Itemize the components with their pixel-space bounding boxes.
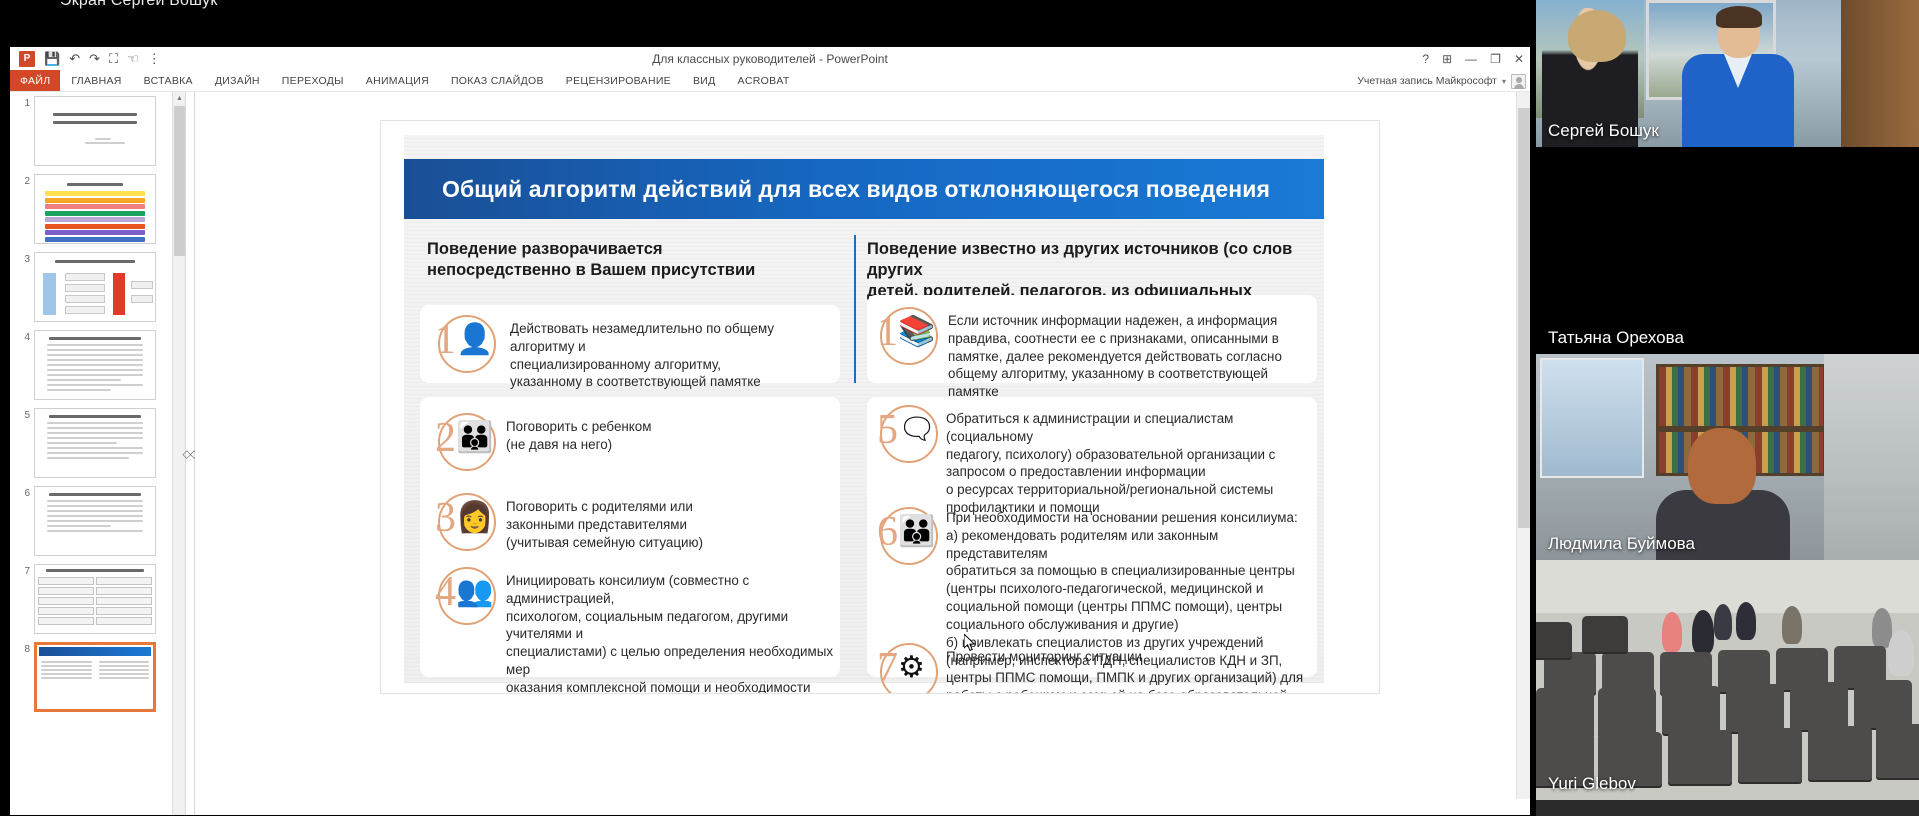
slide-vertical-scrollbar[interactable] (1516, 92, 1530, 799)
slide-title-text: Общий алгоритм действий для всех видов о… (404, 176, 1270, 203)
thumbnail-number: 7 (20, 564, 34, 577)
thumbnail-item[interactable]: 4 (20, 330, 179, 400)
step-badge: 3 👩 (438, 493, 496, 551)
scrollbar-thumb[interactable] (1518, 108, 1530, 528)
screen-root: Экран Сергей Бошук P 💾 ↶ ↷ ⛶ ☜ ⋮ Для кла… (0, 0, 1919, 816)
tab-insert[interactable]: ВСТАВКА (133, 70, 204, 91)
tab-slideshow[interactable]: ПОКАЗ СЛАЙДОВ (440, 70, 555, 91)
participant-tile-yuri[interactable]: Yuri Glebov (1536, 560, 1919, 800)
tab-transitions[interactable]: ПЕРЕХОДЫ (271, 70, 355, 91)
left-step-3: 3 👩 Поговорить с родителями или законным… (438, 493, 828, 551)
thumbnail-number: 6 (20, 486, 34, 499)
step-text: Инициировать консилиум (совместно с адми… (496, 567, 838, 694)
participant-name: Сергей Бошук (1548, 121, 1659, 141)
close-button[interactable]: ✕ (1514, 52, 1524, 66)
participant-name: Yuri Glebov (1548, 774, 1636, 794)
thumbnail-item[interactable]: 7 (20, 564, 179, 634)
powerpoint-logo-icon: P (19, 51, 35, 67)
ribbon-tab-bar: ФАЙЛ ГЛАВНАЯ ВСТАВКА ДИЗАЙН ПЕРЕХОДЫ АНИ… (10, 70, 1530, 92)
video-feed (1536, 354, 1919, 560)
step-number: 5 (877, 409, 898, 451)
participant-name: Людмила Буймова (1548, 534, 1695, 554)
step-text: Действовать незамедлительно по общему ал… (496, 315, 838, 391)
account-area[interactable]: Учетная запись Майкрософт ▾ (1357, 70, 1526, 92)
minimize-button[interactable]: — (1465, 52, 1477, 66)
tab-design[interactable]: ДИЗАЙН (204, 70, 271, 91)
monitoring-cycle-icon: ⚙ (898, 653, 925, 683)
left-step-1: 1 👤 Действовать незамедлительно по общем… (438, 315, 838, 391)
thumbnail-number: 3 (20, 252, 34, 265)
group-of-people-icon: 👥 (456, 577, 493, 607)
slide-thumbnail-pane[interactable]: 1 2 (10, 92, 186, 815)
step-number: 7 (877, 647, 898, 689)
step-text: Если источник информации надежен, а инфо… (938, 307, 1310, 401)
tab-acrobat[interactable]: ACROBAT (727, 70, 801, 91)
step-text: Поговорить с ребенком (не давя на него) (496, 413, 651, 454)
thumbnail-number: 5 (20, 408, 34, 421)
person-reading-icon: 📚 (898, 317, 935, 347)
step-number: 1 (435, 319, 456, 361)
step-text: Провести мониторинг ситуации (938, 643, 1142, 666)
restore-button[interactable]: ❐ (1490, 52, 1501, 66)
thumbnail-slide-7[interactable] (34, 564, 156, 634)
adult-and-child-icon: 👪 (456, 423, 493, 453)
speech-bubbles-icon: 🗨 (898, 415, 936, 445)
thumbnail-item[interactable]: 8 (20, 642, 179, 712)
participant-tile-sergey[interactable]: Сергей Бошук (1536, 0, 1919, 147)
document-title: Для классных руководителей - PowerPoint (10, 52, 1530, 66)
current-slide[interactable]: Общий алгоритм действий для всех видов о… (380, 120, 1380, 694)
pane-splitter[interactable]: ◇◇ (186, 92, 195, 815)
title-bar: P 💾 ↶ ↷ ⛶ ☜ ⋮ Для классных руководителей… (10, 47, 1530, 70)
column-divider (854, 235, 856, 383)
thumbnail-item[interactable]: 2 (20, 174, 179, 244)
video-feed-off (1536, 147, 1919, 354)
step-badge: 1 👤 (438, 315, 496, 373)
right-step-5: 5 🗨 Обратиться к администрации и специал… (880, 405, 1310, 517)
scrollbar-thumb[interactable] (174, 106, 185, 256)
step-badge: 6 👪 (880, 507, 938, 565)
powerpoint-body: 1 2 (10, 92, 1530, 815)
rail-bottom-bar (1536, 800, 1919, 816)
thumbnail-number: 4 (20, 330, 34, 343)
tab-view[interactable]: ВИД (682, 70, 727, 91)
powerpoint-window: P 💾 ↶ ↷ ⛶ ☜ ⋮ Для классных руководителей… (10, 47, 1530, 815)
start-presentation-icon[interactable]: ⛶ (109, 52, 118, 65)
slide-title-band: Общий алгоритм действий для всех видов о… (404, 159, 1324, 219)
video-participant-rail: Сергей Бошук Татьяна Орехова Людмила Буй… (1536, 0, 1919, 816)
scroll-up-icon[interactable]: ▲ (173, 92, 186, 105)
thumbnail-number: 1 (20, 96, 34, 109)
quick-access-toolbar: P 💾 ↶ ↷ ⛶ ☜ ⋮ (10, 51, 161, 67)
thumbnail-slide-8-active[interactable] (34, 642, 156, 712)
person-pointing-icon: 👤 (456, 325, 493, 355)
family-icon: 👪 (898, 517, 935, 547)
thumbnail-slide-3[interactable] (34, 252, 156, 322)
left-step-2: 2 👪 Поговорить с ребенком (не давя на не… (438, 413, 828, 471)
thumbnail-number: 8 (20, 642, 34, 655)
screen-share-caption: Экран Сергей Бошук (60, 0, 218, 10)
video-feed (1536, 560, 1919, 800)
window-controls: ? ⊞ — ❐ ✕ (1422, 47, 1524, 70)
parent-icon: 👩 (456, 503, 493, 533)
step-text: Обратиться к администрации и специалиста… (938, 405, 1310, 517)
avatar[interactable] (1511, 74, 1526, 89)
help-button[interactable]: ? (1422, 52, 1429, 66)
thumbnail-list: 1 2 (10, 92, 185, 712)
ribbon-display-options-button[interactable]: ⊞ (1442, 52, 1452, 66)
chevron-down-icon[interactable]: ▾ (1502, 77, 1506, 86)
slide-editing-area[interactable]: Общий алгоритм действий для всех видов о… (195, 92, 1530, 815)
step-text: Поговорить с родителями или законными пр… (496, 493, 703, 551)
tab-animation[interactable]: АНИМАЦИЯ (355, 70, 440, 91)
redo-icon[interactable]: ↷ (89, 52, 100, 65)
step-number: 4 (435, 571, 456, 613)
tab-review[interactable]: РЕЦЕНЗИРОВАНИЕ (555, 70, 682, 91)
right-step-1: 1 📚 Если источник информации надежен, а … (880, 307, 1310, 401)
participant-tile-lyudmila[interactable]: Людмила Буймова (1536, 354, 1919, 560)
thumbnail-number: 2 (20, 174, 34, 187)
undo-icon[interactable]: ↶ (69, 52, 80, 65)
step-number: 6 (877, 511, 898, 553)
right-step-7: 7 ⚙ Провести мониторинг ситуации (880, 643, 1310, 694)
thumbnail-slide-4[interactable] (34, 330, 156, 400)
step-badge: 2 👪 (438, 413, 496, 471)
participant-tile-tatyana[interactable]: Татьяна Орехова (1536, 147, 1919, 354)
customize-qat-icon[interactable]: ⋮ (148, 52, 161, 65)
step-badge: 5 🗨 (880, 405, 938, 463)
thumbnail-slide-6[interactable] (34, 486, 156, 556)
left-step-4: 4 👥 Инициировать консилиум (совместно с … (438, 567, 838, 694)
step-number: 3 (435, 497, 456, 539)
tab-file[interactable]: ФАЙЛ (10, 70, 60, 91)
thumbnail-slide-2[interactable] (34, 174, 156, 244)
thumbnail-item[interactable]: 5 (20, 408, 179, 478)
step-number: 1 (877, 311, 898, 353)
left-column-heading: Поведение разворачивается непосредственн… (427, 239, 827, 281)
thumbnail-item[interactable]: 3 (20, 252, 179, 322)
step-number: 2 (435, 417, 456, 459)
step-badge: 1 📚 (880, 307, 938, 365)
thumbnail-item[interactable]: 6 (20, 486, 179, 556)
slide-canvas: Общий алгоритм действий для всех видов о… (404, 135, 1324, 683)
touch-mode-icon[interactable]: ☜ (127, 52, 139, 65)
thumbnail-slide-5[interactable] (34, 408, 156, 478)
save-icon[interactable]: 💾 (44, 52, 60, 65)
participant-name: Татьяна Орехова (1548, 328, 1684, 348)
thumbnail-item[interactable]: 1 (20, 96, 179, 166)
account-label: Учетная запись Майкрософт (1357, 75, 1497, 87)
thumbnail-slide-1[interactable] (34, 96, 156, 166)
step-badge: 4 👥 (438, 567, 496, 625)
tab-home[interactable]: ГЛАВНАЯ (60, 70, 132, 91)
step-badge: 7 ⚙ (880, 643, 938, 694)
